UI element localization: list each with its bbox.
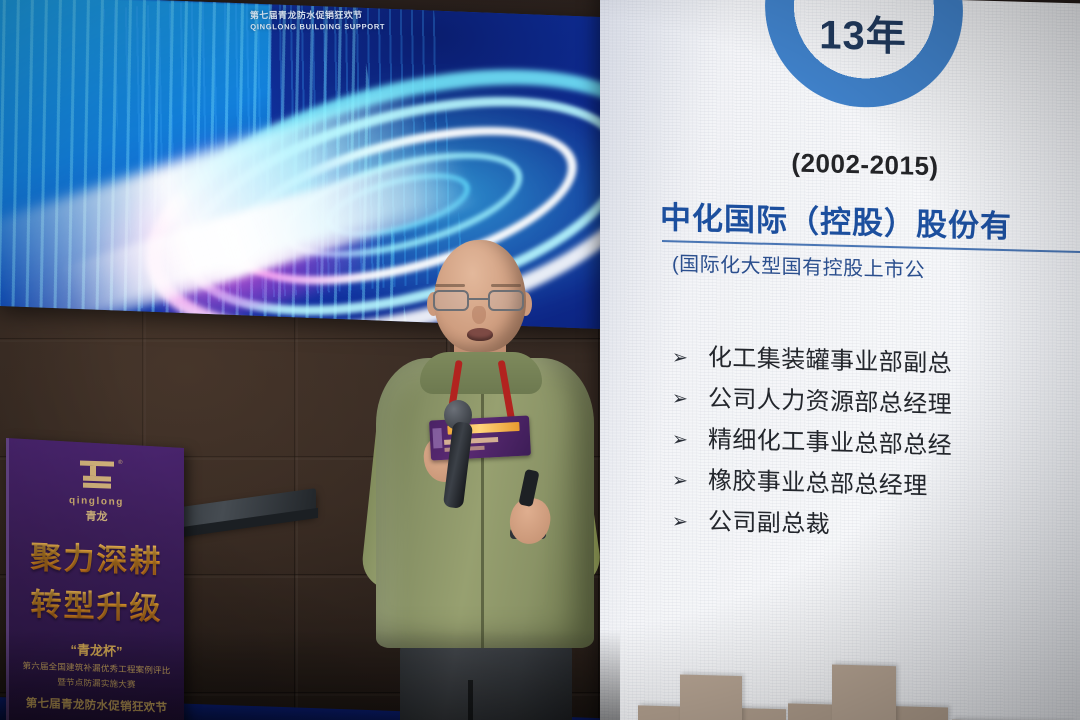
company-name: 中化国际（控股）股份有 xyxy=(660,192,1012,246)
slide-content: 13年 (2002-2015) 中化国际（控股）股份有 (国际化大型国有控股上市… xyxy=(600,0,1080,720)
led-title-en: QINGLONG BUILDING SUPPORT xyxy=(250,22,385,31)
bullet-arrow-icon: ➢ xyxy=(672,383,708,414)
donut-center-label: 13年 xyxy=(768,1,958,64)
list-item: ➢ 橡胶事业总部总经理 xyxy=(672,465,1080,507)
registered-mark: ® xyxy=(118,460,122,466)
role-bullet-list: ➢ 化工集装罐事业部副总 ➢ 公司人力资源部总经理 ➢ 精细化工事业总部总经 ➢… xyxy=(672,342,1080,559)
led-screen-title-block: 第七届青龙防水促销狂欢节 QINGLONG BUILDING SUPPORT xyxy=(250,8,386,31)
bullet-arrow-icon: ➢ xyxy=(672,342,708,373)
floor-shadow xyxy=(0,630,620,720)
qinglong-logo-icon: ® xyxy=(76,458,118,493)
bullet-arrow-icon: ➢ xyxy=(672,506,708,537)
logo-stroke-1 xyxy=(80,460,114,466)
years-range-label: (2002-2015) xyxy=(750,146,980,183)
speaker-jacket xyxy=(376,358,594,648)
list-item-label: 橡胶事业总部总经理 xyxy=(708,466,928,502)
list-item: ➢ 公司人力资源部总经理 xyxy=(672,383,1080,425)
box-stack-right xyxy=(832,665,896,720)
banner-slogan-line-2: 转型升级 xyxy=(9,578,184,629)
projection-slide: 13年 (2002-2015) 中化国际（控股）股份有 (国际化大型国有控股上市… xyxy=(600,0,1080,720)
nose xyxy=(472,306,486,324)
list-item: ➢ 精细化工事业总部总经 xyxy=(672,424,1080,466)
list-item: ➢ 公司副总裁 xyxy=(672,506,1080,548)
bullet-arrow-icon: ➢ xyxy=(672,465,708,496)
eyebrow-left xyxy=(435,284,465,287)
list-item-label: 精细化工事业总部总经 xyxy=(708,425,952,461)
mouth xyxy=(467,328,493,341)
badge-photo xyxy=(432,428,442,448)
led-title-cn: 第七届青龙防水促销狂欢节 xyxy=(250,8,385,21)
list-item: ➢ 化工集装罐事业部副总 xyxy=(672,342,1080,384)
list-item-label: 公司人力资源部总经理 xyxy=(708,384,952,420)
logo-stroke-4 xyxy=(83,483,111,489)
list-item-label: 公司副总裁 xyxy=(708,507,830,540)
glasses-lens-left xyxy=(433,290,469,311)
glasses-bridge xyxy=(469,298,488,300)
cardboard-box-graphic xyxy=(600,630,1080,720)
scene-root: 第七届青龙防水促销狂欢节 QINGLONG BUILDING SUPPORT 1… xyxy=(0,0,1080,720)
box-stack-left xyxy=(680,675,742,720)
logo-stroke-3 xyxy=(83,476,111,482)
glasses-lens-right xyxy=(488,290,524,311)
bullet-arrow-icon: ➢ xyxy=(672,424,708,455)
logo-stroke-2 xyxy=(90,466,96,476)
eyebrow-right xyxy=(491,284,521,287)
list-item-label: 化工集装罐事业部副总 xyxy=(708,343,952,379)
jacket-hood xyxy=(420,352,542,394)
banner-slogan-line-1: 聚力深耕 xyxy=(9,531,184,582)
conference-badge xyxy=(429,415,531,460)
company-subtitle: (国际化大型国有控股上市公 xyxy=(672,247,925,283)
